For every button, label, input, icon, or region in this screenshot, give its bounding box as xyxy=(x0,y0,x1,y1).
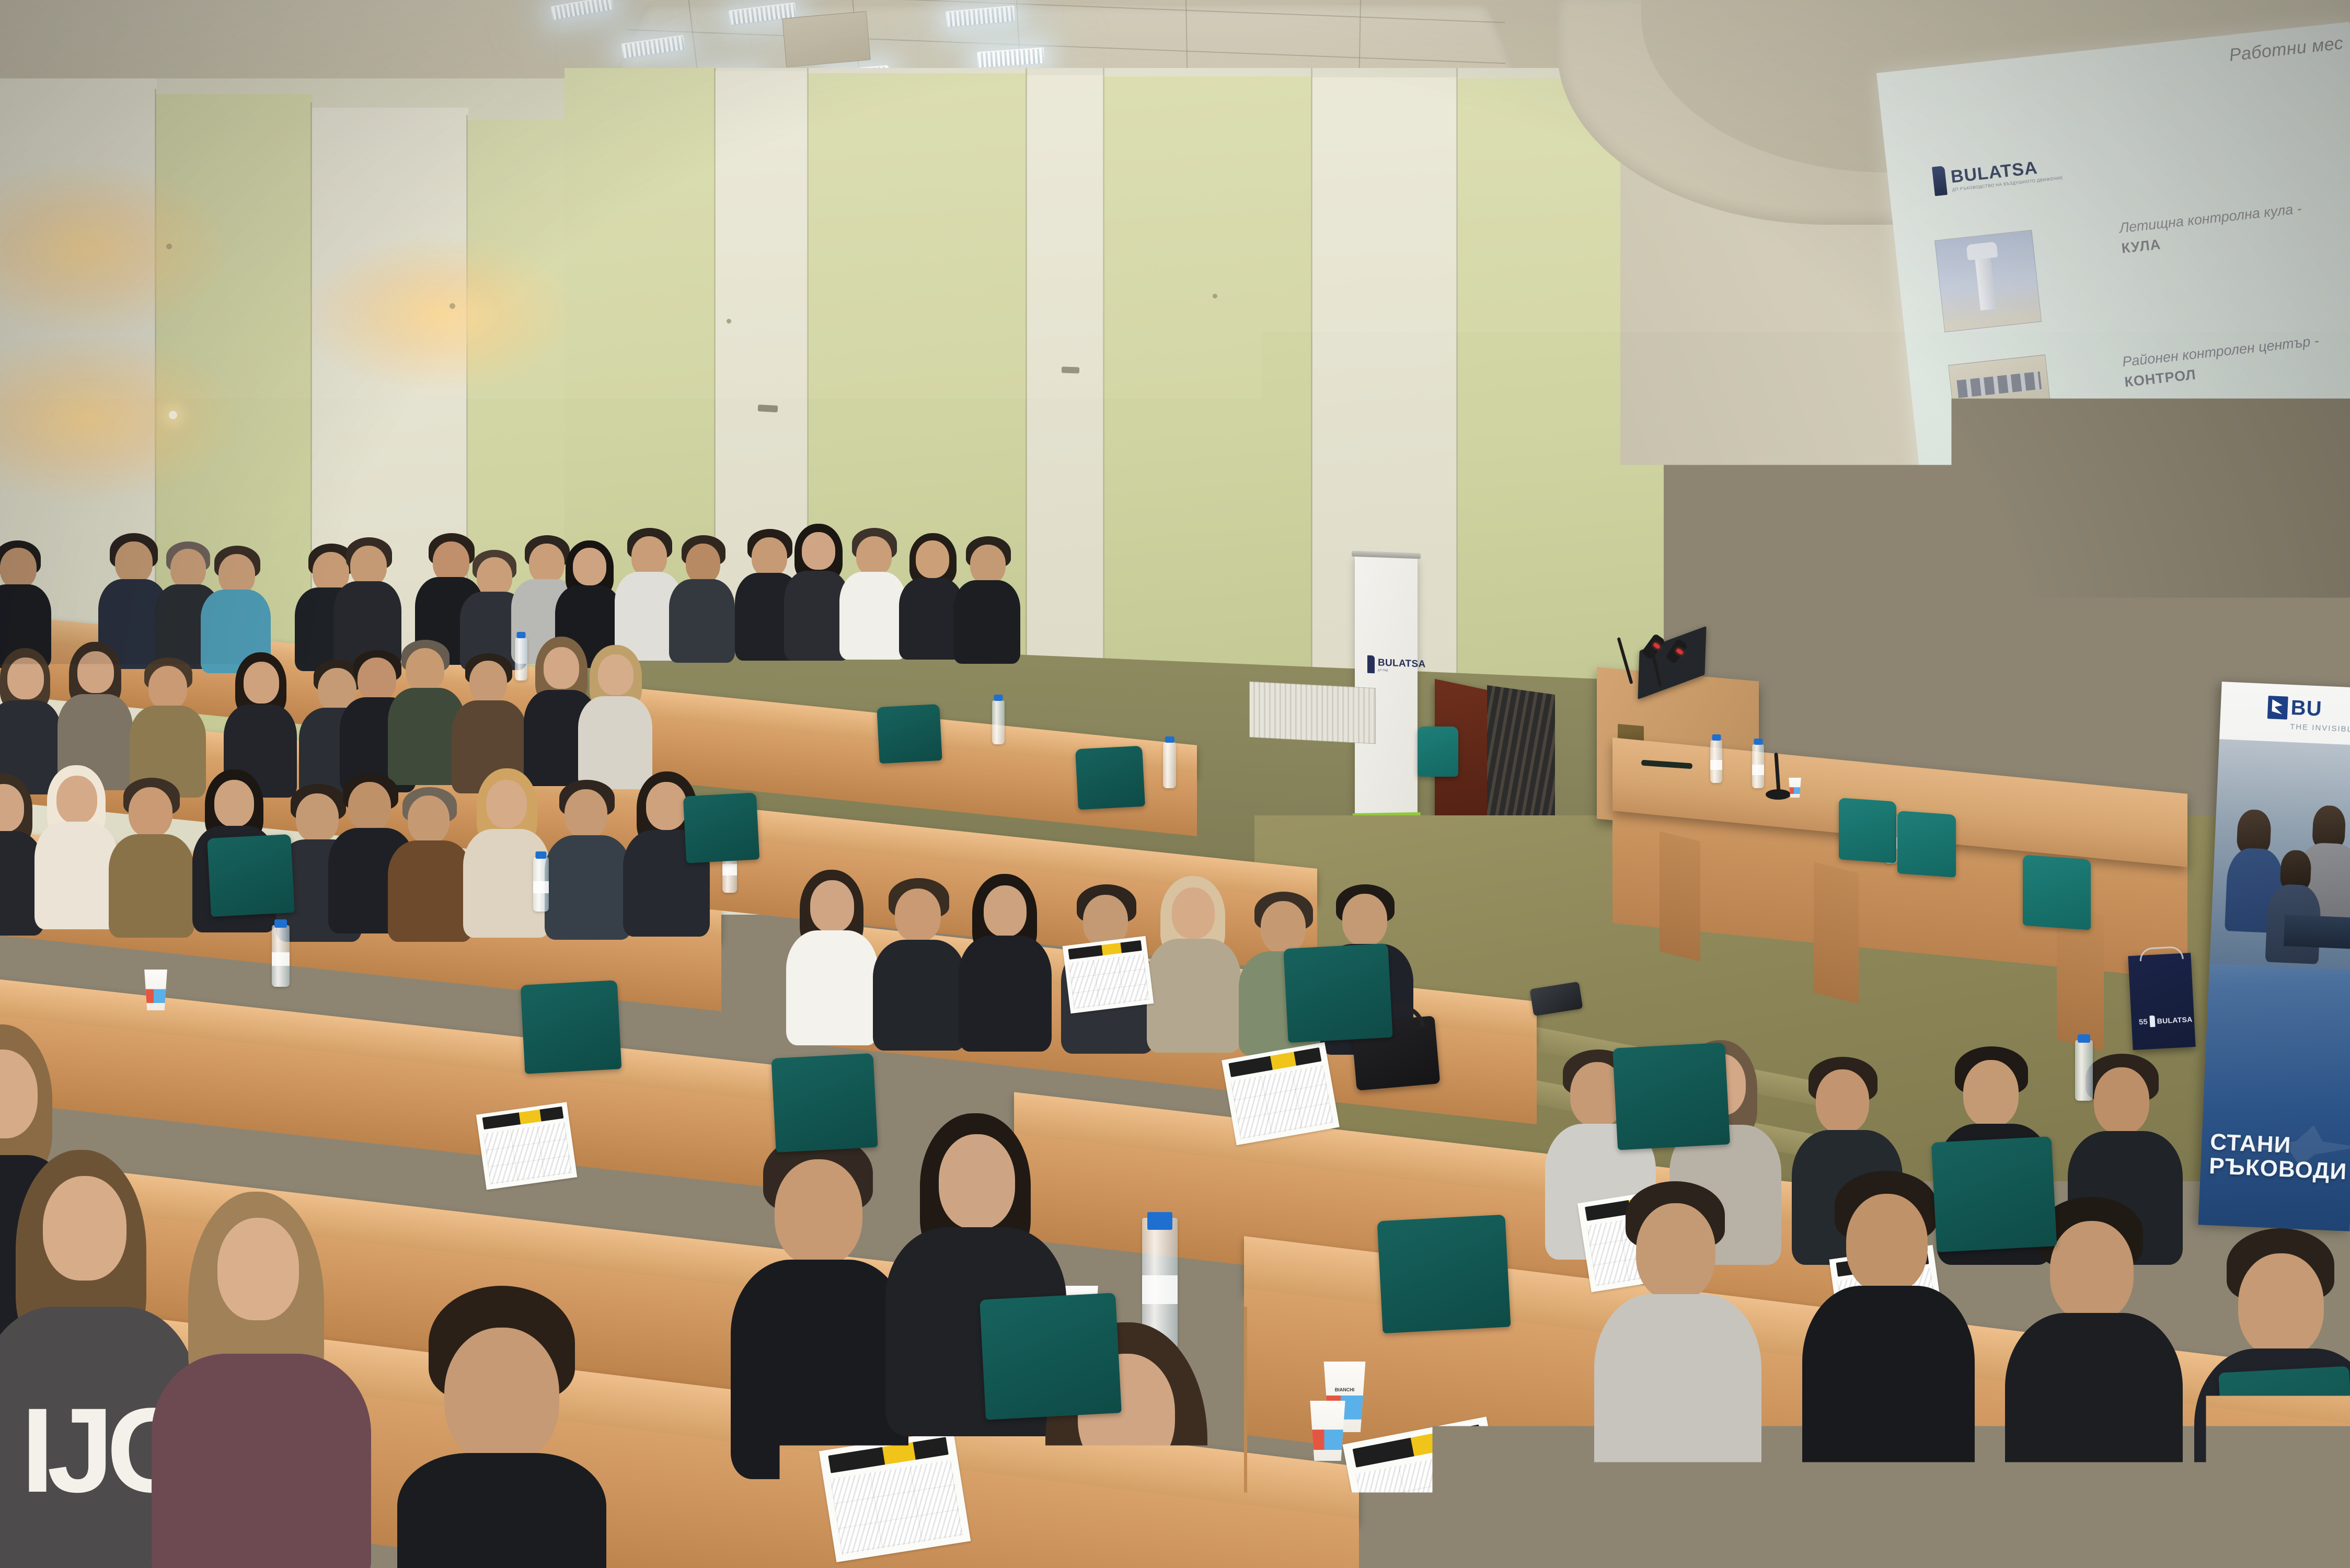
presidium-leg xyxy=(1660,831,1700,961)
wall-hinge xyxy=(1213,294,1217,298)
wall-fixture xyxy=(450,303,455,309)
bottle-cap xyxy=(1712,734,1721,741)
banner-console xyxy=(2284,915,2350,950)
audience-row-a2 xyxy=(617,523,1035,669)
lecture-chair[interactable] xyxy=(1931,1136,2057,1252)
lecture-chair[interactable] xyxy=(207,834,295,917)
slide-thumb-control-room xyxy=(1948,354,2055,457)
lecture-hall-photo: Работни мес BULATSA ДП РЪКОВОДСТВО НА ВЪ… xyxy=(0,0,2350,1568)
rollup-logo-text: BULATSA xyxy=(1378,657,1425,670)
bottle-label xyxy=(533,881,549,893)
bottle-cap xyxy=(536,851,547,859)
lecture-chair[interactable] xyxy=(1283,943,1392,1043)
table-microphone-base xyxy=(1766,789,1791,800)
bottle-cap xyxy=(1165,736,1174,743)
slide-bulatsa-logo: BULATSA ДП РЪКОВОДСТВО НА ВЪЗДУШНОТО ДВИ… xyxy=(1932,153,2064,196)
slide-bullet-3: Орган за контрол на подхода - ПОДХОД xyxy=(2125,455,2334,513)
water-bottle[interactable] xyxy=(1710,740,1722,783)
water-bottle[interactable] xyxy=(533,857,549,912)
banner-photo xyxy=(2209,739,2350,970)
water-bottle[interactable] xyxy=(1163,742,1176,788)
bottle-cap xyxy=(2078,1034,2090,1043)
lecture-chair[interactable] xyxy=(2218,1366,2350,1493)
fire-alarm[interactable] xyxy=(1923,732,1939,754)
banner-person-1 xyxy=(2237,809,2272,855)
water-bottle[interactable] xyxy=(272,925,290,987)
wall-hinge xyxy=(727,319,731,324)
lecture-chair[interactable] xyxy=(771,1053,878,1152)
display-glare xyxy=(1977,579,2091,699)
banner-tagline: THE INVISIBLE xyxy=(2290,722,2350,734)
lecture-chair[interactable] xyxy=(521,980,622,1074)
presidium-chair[interactable] xyxy=(1897,811,1956,878)
slide-thumb-tower xyxy=(1934,230,2042,332)
comic-leaflet[interactable] xyxy=(1063,936,1154,1014)
lecture-chair[interactable] xyxy=(877,704,942,764)
water-bottle[interactable] xyxy=(992,700,1005,744)
operator-icon xyxy=(2012,514,2040,553)
audience-row-d xyxy=(784,847,1568,1045)
presidium-leg xyxy=(1814,862,1859,1004)
banner-person-2 xyxy=(2312,805,2346,849)
lecture-chair[interactable] xyxy=(1075,746,1145,810)
water-bottle[interactable] xyxy=(1752,744,1764,788)
presidium-chair[interactable] xyxy=(2023,855,2091,930)
backdrop-bulgarian-name: РУСЕНСКИ УНИВЕРСИТЕТ „АНГЕЛ КЪНЧЕВ“ xyxy=(1588,506,1719,563)
radiator xyxy=(1249,682,1376,744)
bulatsa-mark-icon xyxy=(1932,166,1948,196)
bottle-label xyxy=(722,864,737,875)
gift-bag-brand: BULATSA xyxy=(2157,1015,2193,1025)
door-handle[interactable] xyxy=(758,405,778,412)
console-row-icon xyxy=(1956,372,2042,398)
banner-logo-text: BU xyxy=(2290,696,2323,721)
screen-bank-icon xyxy=(1974,498,2009,538)
hoodie-graphic: IJC xyxy=(21,1390,152,1521)
bottle-cap xyxy=(517,632,526,638)
bottle-cap xyxy=(994,695,1003,701)
bottle-label xyxy=(1710,760,1722,770)
bottle-cap xyxy=(274,919,287,928)
lecture-chair[interactable] xyxy=(980,1293,1122,1420)
slide-title: Работни мес xyxy=(2228,33,2344,65)
leaflet-comic-cells xyxy=(1069,954,1149,1009)
wall-fixture xyxy=(166,244,172,249)
bottle-cap xyxy=(1754,739,1762,745)
slide-bullet-1: Летищна контролна кула - КУЛА xyxy=(2118,201,2305,257)
bulatsa-mark-icon xyxy=(1367,655,1375,673)
backdrop-english-name: UNIVERSITY OF RUSE ANGEL KANCHEV xyxy=(1755,521,1907,563)
bottle-label xyxy=(1752,765,1764,775)
audience-row-c xyxy=(0,747,753,925)
ceiling-vent xyxy=(782,11,871,67)
projection-screen: Работни мес BULATSA ДП РЪКОВОДСТВО НА ВЪ… xyxy=(1876,22,2350,557)
presidium-chair[interactable] xyxy=(1839,798,1896,863)
speaker-hair xyxy=(1741,592,1781,613)
bulatsa-bird-icon xyxy=(2267,696,2288,720)
lecture-chair[interactable] xyxy=(683,792,760,863)
banner-logo: BU xyxy=(2267,695,2323,721)
side-chair[interactable] xyxy=(1418,727,1458,777)
wall-lamp-glow xyxy=(169,411,177,419)
rollup-logo: BULATSA ДП РВД xyxy=(1367,655,1425,675)
tower-cab-icon xyxy=(1966,241,1998,260)
water-bottle[interactable] xyxy=(2075,1040,2093,1101)
slide-bullet-2: Районен контролен център - КОНТРОЛ xyxy=(2122,333,2322,390)
lecture-chair[interactable] xyxy=(1377,1215,1511,1334)
lecture-chair[interactable] xyxy=(1612,1043,1730,1150)
door-handle[interactable] xyxy=(1062,366,1079,373)
university-logo-icon xyxy=(1725,518,1745,546)
water-bottle[interactable] xyxy=(515,638,527,681)
bottle-label xyxy=(272,952,290,966)
